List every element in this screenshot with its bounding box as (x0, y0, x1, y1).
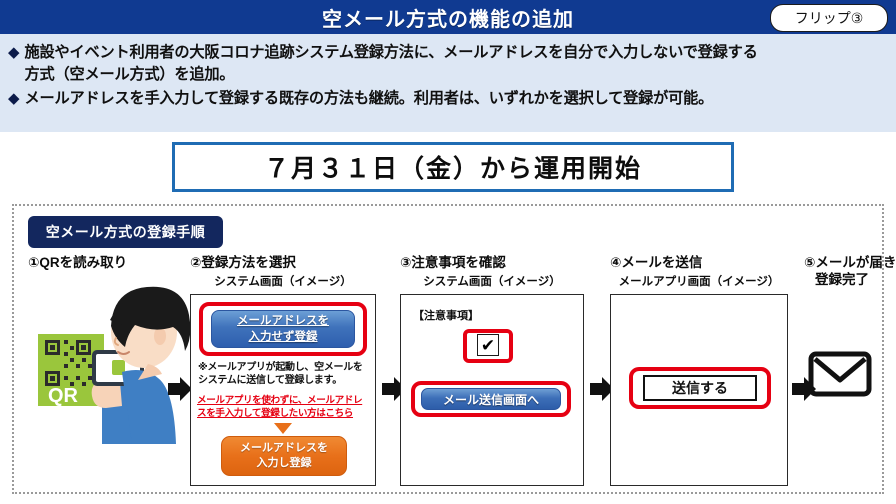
step-3-subtitle: システム画面（イメージ） (400, 274, 584, 290)
step-5-registration-complete: ⑤メールが届き 登録完了 (804, 254, 880, 288)
step-3-screen: 【注意事項】 ✔ メール送信画面へ (400, 294, 584, 486)
orange-down-arrow-icon (274, 423, 292, 434)
step-2-note: ※メールアプリが起動し、空メールを システムに送信して登録します。 (198, 361, 372, 387)
procedure-steps: ①QRを読み取り (14, 254, 882, 492)
procedure-label: 空メール方式の登録手順 (28, 216, 223, 248)
register-with-email-line2: 入力し登録 (257, 456, 312, 471)
launch-date-banner: ７月３１日（金）から運用開始 (172, 142, 734, 192)
step-5-title-line1: ⑤メールが届き (804, 254, 880, 271)
agree-checkbox[interactable]: ✔ (477, 334, 499, 356)
bullet-line-1: メールアドレスを手入力して登録する既存の方法も継続。利用者は、いずれかを選択して… (25, 90, 714, 107)
bullet-text: 施設やイベント利用者の大阪コロナ追跡システム登録方法に、メールアドレスを自分で入… (25, 42, 758, 86)
launch-date-text: ７月３１日（金）から運用開始 (264, 149, 642, 185)
step-3-confirm-notice: ③注意事項を確認 システム画面（イメージ） 【注意事項】 ✔ メール送信画面へ (400, 254, 584, 486)
register-without-email-button[interactable]: メールアドレスを 入力せず登録 (211, 310, 355, 348)
step-3-title: ③注意事項を確認 (400, 254, 584, 271)
register-with-email-line1: メールアドレスを (240, 441, 328, 456)
step-2-note-line1: ※メールアプリが起動し、空メールを (198, 361, 372, 374)
register-without-email-line2: 入力せず登録 (249, 329, 318, 345)
summary-bullets: ◆ 施設やイベント利用者の大阪コロナ追跡システム登録方法に、メールアドレスを自分… (0, 34, 896, 132)
step-2-select-method: ②登録方法を選択 システム画面（イメージ） メールアドレスを 入力せず登録 ※メ… (190, 254, 376, 486)
bullet-line-1: 施設やイベント利用者の大阪コロナ追跡システム登録方法に、メールアドレスを自分で入… (25, 44, 758, 61)
register-without-email-line1: メールアドレスを (237, 313, 329, 329)
qr-label: QR (48, 385, 79, 407)
procedure-panel: 空メール方式の登録手順 ①QRを読み取り (12, 204, 884, 494)
qr-scan-svg: QR (36, 276, 191, 461)
qr-scan-illustration: QR (36, 276, 191, 461)
step-1-scan-qr: ①QRを読み取り (28, 254, 188, 271)
page-title: 空メール方式の機能の追加 (322, 3, 574, 32)
step-2-title: ②登録方法を選択 (190, 254, 376, 271)
step-4-subtitle: メールアプリ画面（イメージ） (610, 274, 788, 290)
step-1-title: ①QRを読み取り (28, 254, 188, 271)
step-2-note-line2: システムに送信して登録します。 (198, 374, 372, 387)
bullet-text: メールアドレスを手入力して登録する既存の方法も継続。利用者は、いずれかを選択して… (25, 88, 714, 110)
step-5-title-line2: 登録完了 (804, 271, 880, 288)
go-to-mail-screen-button[interactable]: メール送信画面へ (421, 388, 561, 410)
manual-entry-link[interactable]: メールアプリを使わずに、メールアドレ スを手入力して登録したい方はこちら (197, 395, 373, 420)
step-4-screen: 送信する (610, 294, 788, 486)
step-4-title: ④メールを送信 (610, 254, 788, 271)
bullet-marker-icon: ◆ (8, 42, 20, 63)
bullet-item: ◆ 施設やイベント利用者の大阪コロナ追跡システム登録方法に、メールアドレスを自分… (8, 42, 886, 86)
header-bar: 空メール方式の機能の追加 フリップ③ (0, 0, 896, 34)
flip-badge: フリップ③ (770, 4, 888, 32)
send-button[interactable]: 送信する (643, 375, 757, 401)
bullet-line-2: 方式（空メール方式）を追加。 (25, 64, 758, 86)
step-4-send-mail: ④メールを送信 メールアプリ画面（イメージ） 送信する (610, 254, 788, 486)
envelope-icon (808, 350, 872, 398)
manual-entry-link-line2: スを手入力して登録したい方はこちら (197, 408, 373, 421)
caution-heading: 【注意事項】 (413, 307, 479, 323)
manual-entry-link-line1: メールアプリを使わずに、メールアドレ (197, 395, 373, 408)
step-2-screen: メールアドレスを 入力せず登録 ※メールアプリが起動し、空メールを システムに送… (190, 294, 376, 486)
bullet-item: ◆ メールアドレスを手入力して登録する既存の方法も継続。利用者は、いずれかを選択… (8, 88, 886, 110)
register-with-email-button[interactable]: メールアドレスを 入力し登録 (221, 436, 347, 476)
mail-received-icon-wrap (808, 350, 872, 403)
bullet-marker-icon: ◆ (8, 88, 20, 109)
step-2-subtitle: システム画面（イメージ） (190, 274, 376, 290)
